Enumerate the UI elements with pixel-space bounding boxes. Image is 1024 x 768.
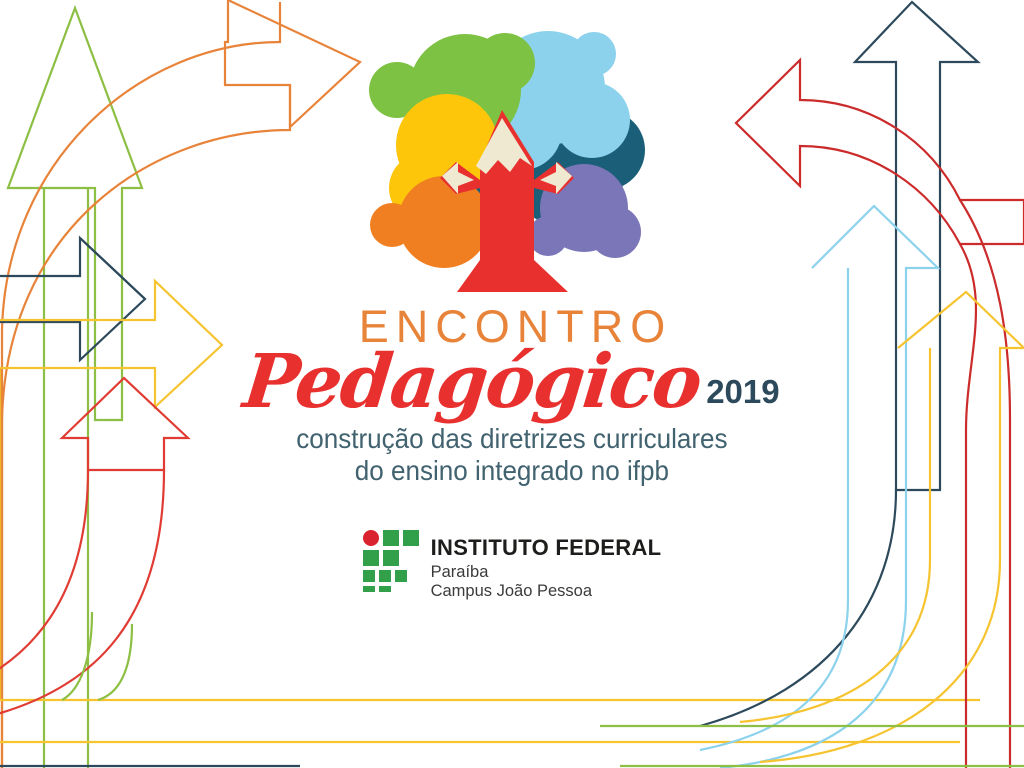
subtitle-line-1: construção das diretrizes curriculares (296, 423, 727, 454)
ifpb-sq-r3c2 (379, 570, 391, 582)
ifpb-sq-r3c1 (363, 570, 375, 582)
ifpb-red-dot (363, 530, 379, 546)
poster-canvas: ENCONTRO Pedagógico 2019 construção das … (0, 0, 1024, 768)
ifpb-sq-r1c3 (403, 530, 419, 546)
event-year: 2019 (706, 375, 779, 408)
ifpb-sq-r2c1 (363, 550, 379, 566)
subtitle-line-2: do ensino integrado no ifpb (296, 455, 727, 486)
leaf-circle-purple-2 (589, 206, 641, 258)
leaf-circle-lightblue-2 (554, 82, 630, 158)
ifpb-sq-r3c3 (395, 570, 407, 582)
ifpb-campus-name: Campus João Pessoa (431, 583, 662, 600)
event-name-pedagogico: Pedagógico (241, 347, 704, 417)
event-name-script-row: Pedagógico 2019 (244, 347, 779, 417)
leaf-circle-green-2 (475, 33, 535, 93)
ifpb-sq-r2c2 (383, 550, 399, 566)
poster-subtitle: construção das diretrizes curriculares d… (296, 423, 727, 486)
ifpb-wordmark: INSTITUTO FEDERAL Paraíba Campus João Pe… (431, 530, 662, 599)
ifpb-institution-name: INSTITUTO FEDERAL (431, 537, 662, 559)
pencil-tree-logo (362, 10, 662, 310)
ifpb-sq-r4c2 (379, 586, 391, 592)
leaf-circle-orange-2 (370, 203, 414, 247)
ifpb-state-name: Paraíba (431, 564, 662, 581)
title-block: ENCONTRO Pedagógico 2019 construção das … (0, 304, 1024, 486)
leaf-circle-lightblue-3 (572, 32, 616, 76)
poster-content: ENCONTRO Pedagógico 2019 construção das … (0, 0, 1024, 768)
ifpb-sq-r4c1 (363, 586, 375, 592)
ifpb-sq-r1c2 (383, 530, 399, 546)
ifpb-grid-mark-icon (363, 530, 419, 592)
ifpb-logo-lockup: INSTITUTO FEDERAL Paraíba Campus João Pe… (363, 530, 662, 599)
